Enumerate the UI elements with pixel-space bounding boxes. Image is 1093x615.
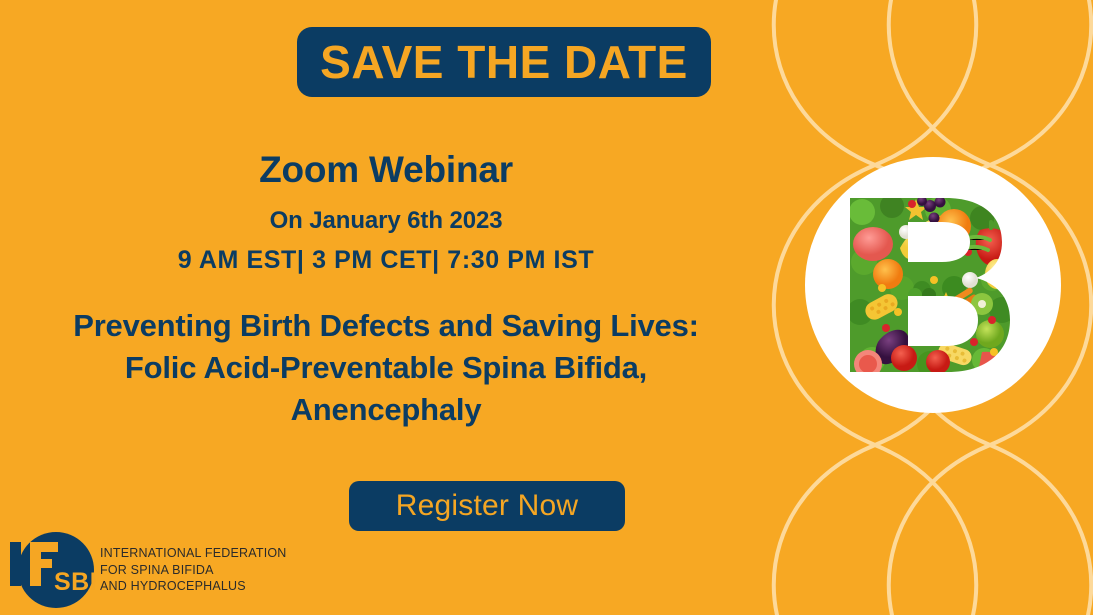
webinar-title: Preventing Birth Defects and Saving Live… [36,305,736,431]
svg-text:SBH: SBH [54,568,96,596]
fruit-letter-medallion [805,157,1061,413]
event-timezones-label: 9 AM EST| 3 PM CET| 7:30 PM IST [0,245,772,275]
fruit-letter-b-icon [842,192,1024,378]
ifsbh-logo: SBH INTERNATIONAL FEDERATION FOR SPINA B… [4,528,294,612]
event-details: Zoom Webinar On January 6th 2023 9 AM ES… [0,148,772,275]
event-type-label: Zoom Webinar [0,148,772,192]
ifsbh-logo-mark-icon: SBH [4,528,96,612]
content-column: SAVE THE DATE Zoom Webinar On January 6t… [0,0,772,615]
register-now-button[interactable]: Register Now [349,481,625,531]
logo-line-3: AND HYDROCEPHALUS [100,578,287,595]
event-date-label: On January 6th 2023 [0,207,772,236]
save-the-date-banner: SAVE THE DATE [297,27,711,97]
ifsbh-logo-wordmark: INTERNATIONAL FEDERATION FOR SPINA BIFID… [100,545,287,595]
logo-line-2: FOR SPINA BIFIDA [100,562,287,579]
save-the-date-flyer: SAVE THE DATE Zoom Webinar On January 6t… [0,0,1093,615]
register-now-label: Register Now [396,491,578,521]
logo-line-1: INTERNATIONAL FEDERATION [100,545,287,562]
save-the-date-label: SAVE THE DATE [320,39,688,85]
